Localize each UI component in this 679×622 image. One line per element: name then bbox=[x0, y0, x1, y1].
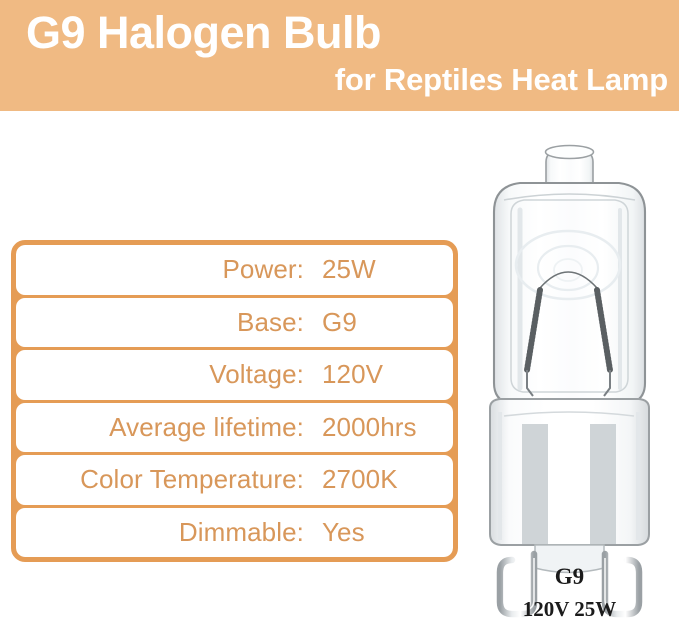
spec-value-dimmable: Yes bbox=[322, 517, 365, 548]
table-row: Voltage: 120V bbox=[16, 350, 453, 400]
bulb-glass-envelope bbox=[494, 183, 645, 404]
header-banner: G9 Halogen Bulb for Reptiles Heat Lamp bbox=[0, 0, 679, 111]
bulb-product-image: G9 120V 25W bbox=[460, 140, 679, 622]
spec-label-voltage: Voltage: bbox=[209, 359, 304, 390]
spec-value-voltage: 120V bbox=[322, 359, 383, 390]
bulb-label-rating: 120V 25W bbox=[460, 599, 679, 620]
spec-label-power: Power: bbox=[222, 254, 304, 285]
spec-label-dimmable: Dimmable: bbox=[179, 517, 304, 548]
specification-table: Power: 25W Base: G9 Voltage: 120V Averag… bbox=[11, 240, 458, 562]
table-row: Power: 25W bbox=[16, 245, 453, 295]
table-row: Base: G9 bbox=[16, 298, 453, 348]
spec-value-base: G9 bbox=[322, 307, 357, 338]
table-row: Average lifetime: 2000hrs bbox=[16, 403, 453, 453]
bulb-press-seal-base bbox=[490, 399, 649, 545]
spec-label-average-lifetime: Average lifetime: bbox=[109, 412, 304, 443]
spec-value-color-temperature: 2700K bbox=[322, 464, 398, 495]
g9-halogen-bulb-icon bbox=[460, 140, 679, 622]
spec-label-color-temperature: Color Temperature: bbox=[80, 464, 304, 495]
bulb-label-model: G9 bbox=[460, 565, 679, 588]
spec-label-base: Base: bbox=[237, 307, 304, 338]
table-row: Dimmable: Yes bbox=[16, 508, 453, 558]
page-subtitle: for Reptiles Heat Lamp bbox=[335, 64, 668, 95]
spec-value-power: 25W bbox=[322, 254, 376, 285]
bulb-tip-cap bbox=[546, 146, 594, 159]
table-row: Color Temperature: 2700K bbox=[16, 455, 453, 505]
page-title: G9 Halogen Bulb bbox=[26, 10, 381, 55]
spec-value-average-lifetime: 2000hrs bbox=[322, 412, 417, 443]
